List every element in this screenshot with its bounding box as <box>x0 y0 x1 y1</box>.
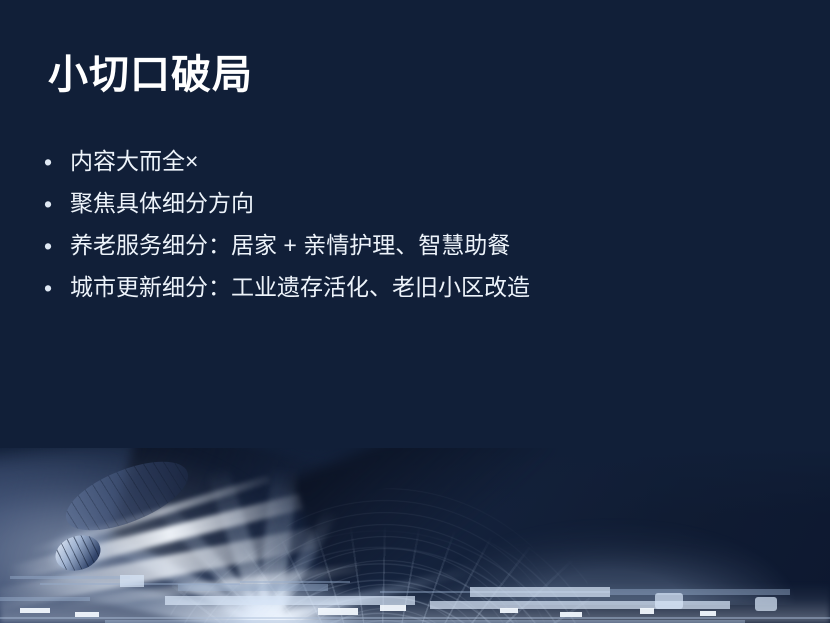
artwork-light-beam <box>44 500 272 623</box>
artwork-haze <box>0 583 830 623</box>
bullet-marker-icon: • <box>44 146 70 177</box>
artwork-skyline <box>0 561 830 623</box>
artwork-light-beam <box>0 617 272 623</box>
artwork-sphere <box>51 530 105 577</box>
bullet-marker-icon: • <box>44 230 70 261</box>
artwork-light-beam <box>267 616 547 623</box>
list-item: • 聚焦具体细分方向 <box>44 188 784 230</box>
presentation-slide: 小切口破局 • 内容大而全× • 聚焦具体细分方向 • 养老服务细分：居家 + … <box>0 0 830 623</box>
bullet-text: 聚焦具体细分方向 <box>70 188 254 219</box>
bullet-text: 养老服务细分：居家 + 亲情护理、智慧助餐 <box>70 230 510 261</box>
bullet-marker-icon: • <box>44 188 70 219</box>
artwork-light-trail <box>8 494 303 582</box>
artwork-wedge <box>287 448 573 592</box>
bullet-text: 城市更新细分：工业遗存活化、老旧小区改造 <box>70 272 530 303</box>
artwork-light-beam <box>0 556 270 623</box>
artwork-mist <box>0 448 280 623</box>
bullet-list: • 内容大而全× • 聚焦具体细分方向 • 养老服务细分：居家 + 亲情护理、智… <box>44 146 784 314</box>
bullet-text: 内容大而全× <box>70 146 198 177</box>
artwork-wedge <box>109 448 432 617</box>
artwork-grid-dome <box>250 488 550 623</box>
artwork-hill <box>420 490 830 605</box>
bullet-marker-icon: • <box>44 272 70 303</box>
slide-title: 小切口破局 <box>48 42 253 100</box>
artwork-light-beam <box>202 452 279 623</box>
artwork-grid-dome <box>170 456 590 623</box>
artwork-light-trail <box>29 475 270 556</box>
artwork-light-beam <box>267 561 493 623</box>
decorative-tech-artwork <box>0 448 830 623</box>
artwork-wedge <box>0 448 310 614</box>
artwork-light-beam <box>255 454 299 623</box>
artwork-light-trail <box>59 563 358 609</box>
artwork-light-beam <box>262 498 344 623</box>
artwork-sphere <box>57 448 197 544</box>
list-item: • 内容大而全× <box>44 146 784 188</box>
list-item: • 城市更新细分：工业遗存活化、老旧小区改造 <box>44 272 784 314</box>
artwork-light-flare <box>205 568 365 623</box>
artwork-light-trail <box>0 527 316 612</box>
list-item: • 养老服务细分：居家 + 亲情护理、智慧助餐 <box>44 230 784 272</box>
artwork-background <box>0 448 830 623</box>
artwork-light-beam <box>135 477 274 623</box>
